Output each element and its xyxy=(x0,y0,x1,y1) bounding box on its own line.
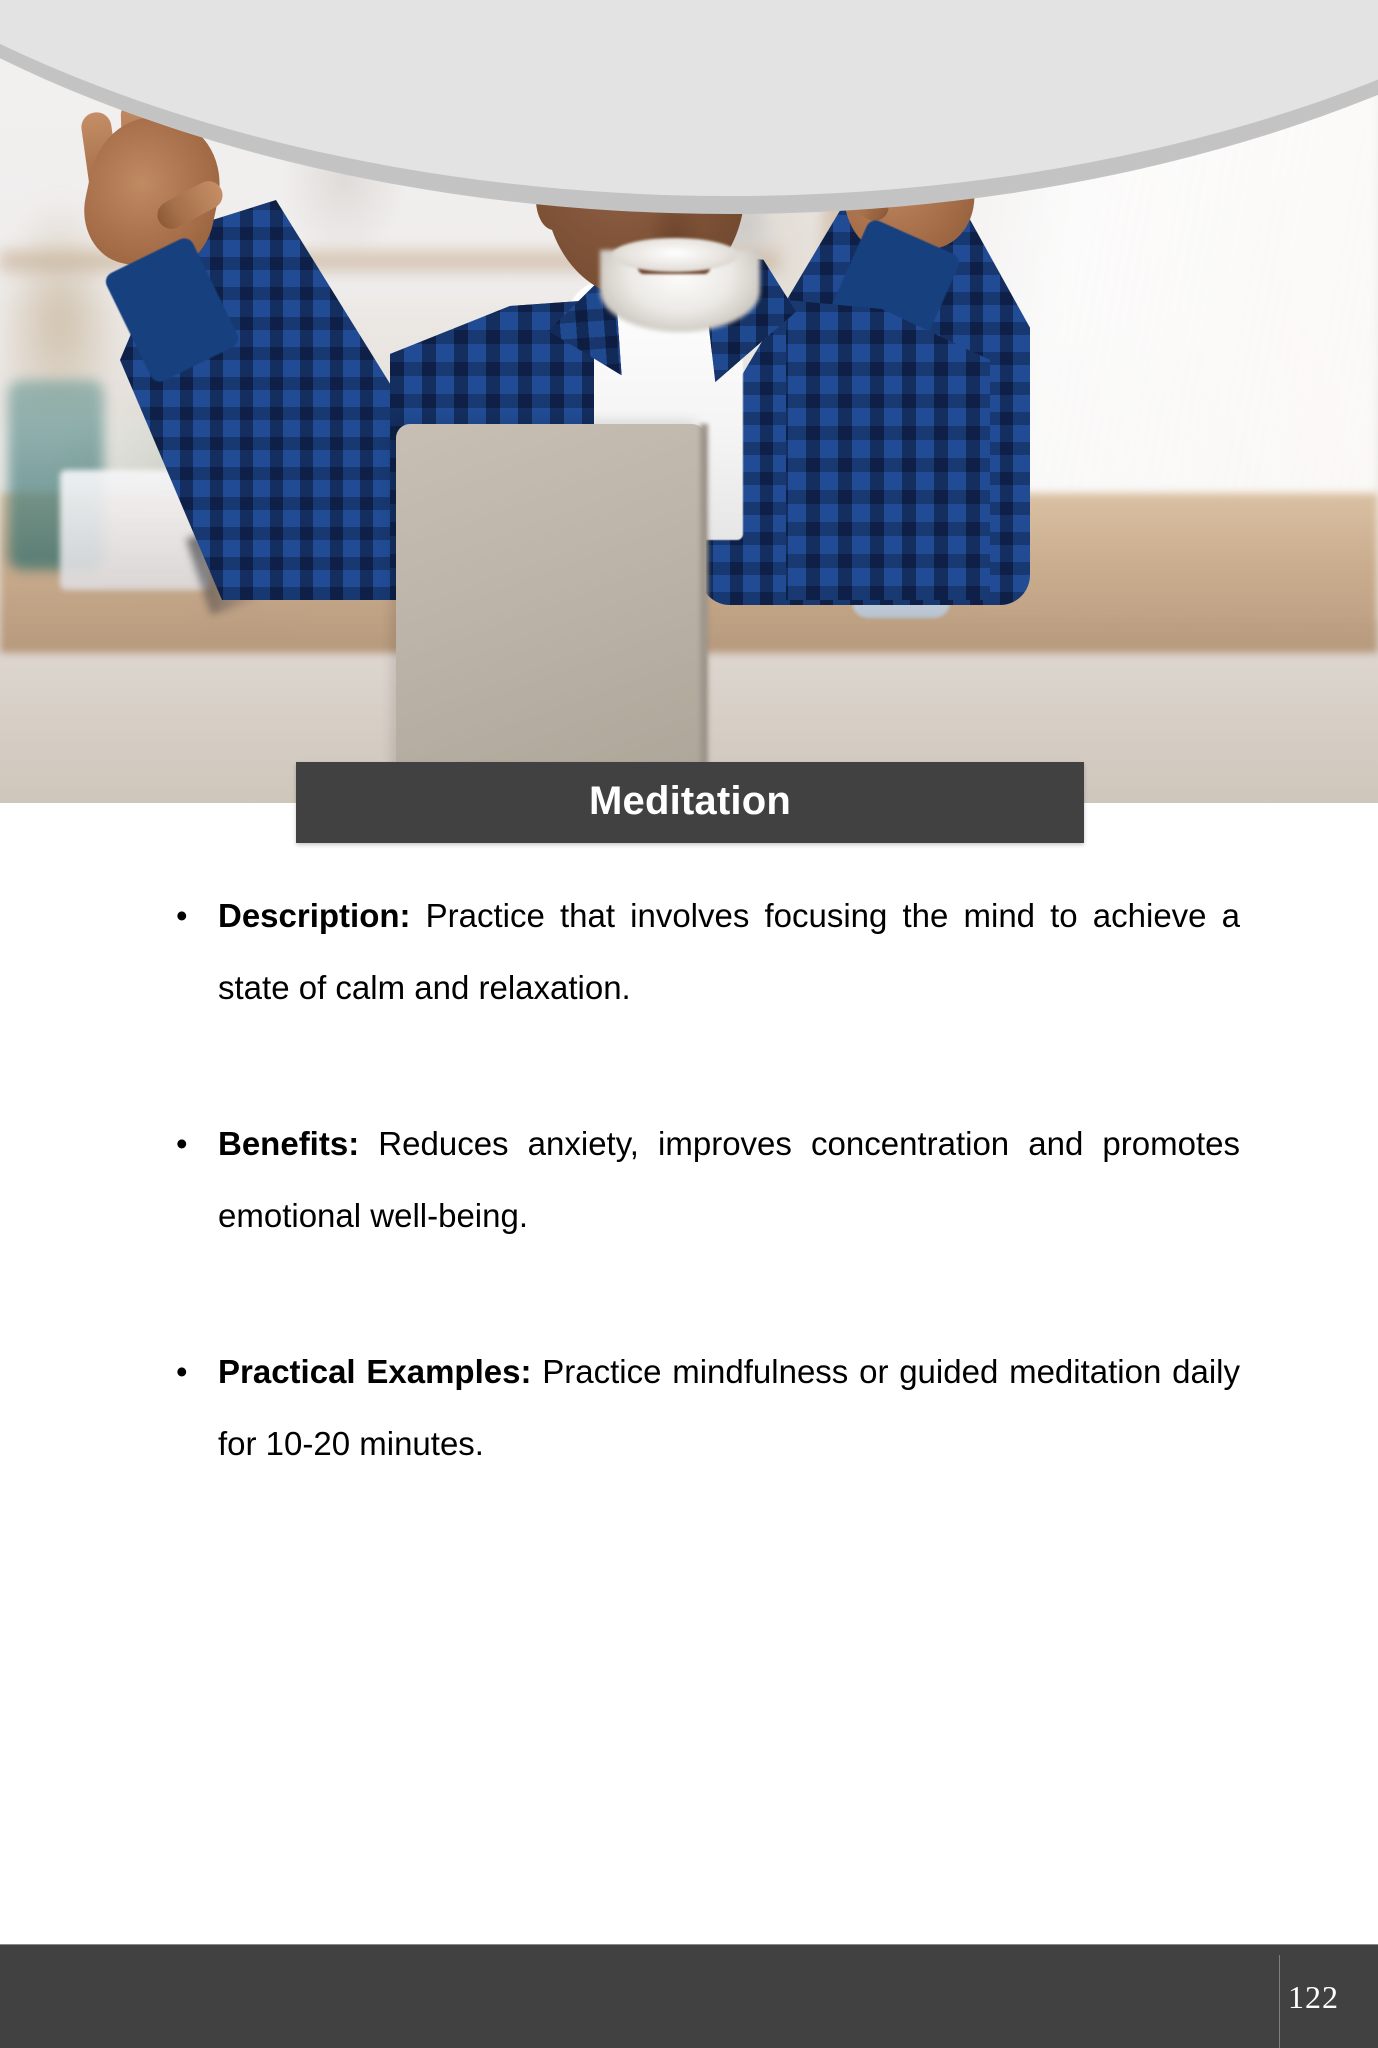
page-title: Meditation xyxy=(589,781,791,825)
list-item: •Practical Examples: Practice mindfulnes… xyxy=(0,1336,1378,1480)
slide-root: Meditation •Description: Practice that i… xyxy=(0,0,1378,2048)
bullet-marker-icon: • xyxy=(176,1336,188,1408)
footer-divider xyxy=(1279,1955,1280,2048)
bullet-marker-icon: • xyxy=(176,880,188,952)
mustache xyxy=(612,238,738,272)
bullet-list: •Description: Practice that involves foc… xyxy=(0,880,1378,1480)
slide-footer: 122 xyxy=(0,1944,1378,2048)
bullet-label: Benefits: xyxy=(218,1125,359,1162)
bullet-text: Reduces anxiety, improves concentration … xyxy=(218,1125,1240,1234)
bullet-label: Description: xyxy=(218,897,411,934)
bullet-label: Practical Examples: xyxy=(218,1353,531,1390)
hero-photo xyxy=(0,0,1378,803)
slide-title-banner: Meditation xyxy=(296,762,1084,843)
list-item: •Benefits: Reduces anxiety, improves con… xyxy=(0,1108,1378,1252)
bullet-marker-icon: • xyxy=(176,1108,188,1180)
page-number: 122 xyxy=(1288,1945,1339,2048)
slide-body: •Description: Practice that involves foc… xyxy=(0,880,1378,1480)
list-item: •Description: Practice that involves foc… xyxy=(0,880,1378,1024)
person-meditating xyxy=(0,0,1378,803)
laptop-edge xyxy=(700,424,708,803)
laptop xyxy=(396,424,706,803)
